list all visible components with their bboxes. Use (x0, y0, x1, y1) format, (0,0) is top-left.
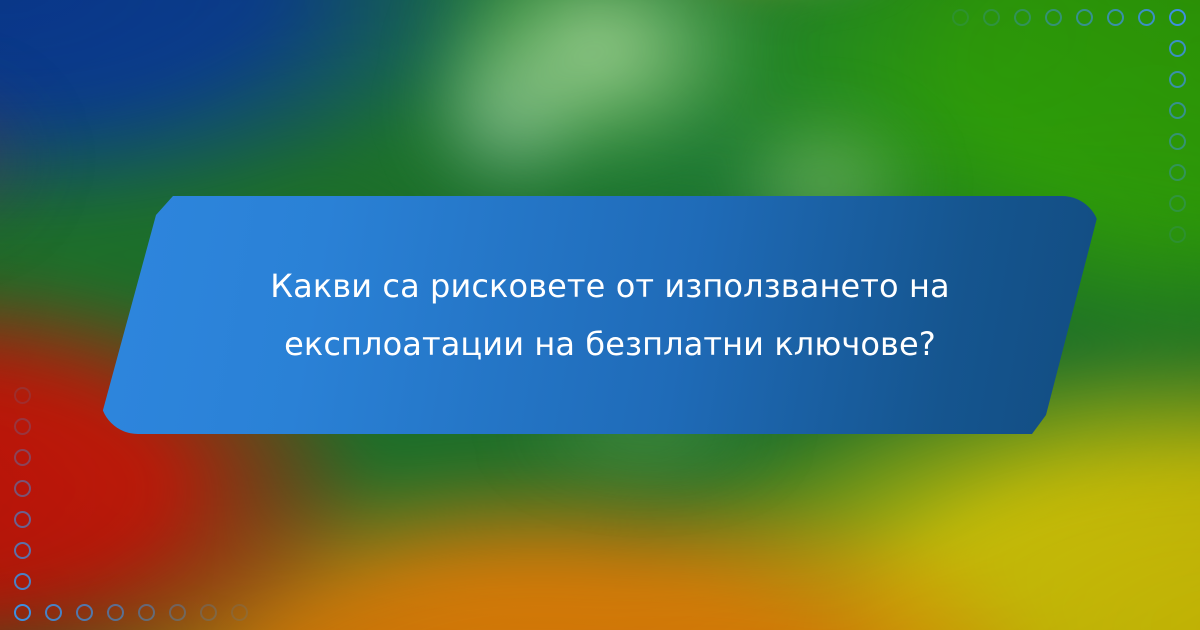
decoration-ring (1076, 9, 1093, 26)
decoration-ring (1169, 71, 1186, 88)
question-line-2: експлоатации на безплатни ключове? (284, 315, 936, 373)
decoration-ring (1045, 9, 1062, 26)
decoration-ring (1169, 40, 1186, 57)
decoration-ring (1169, 195, 1186, 212)
decoration-ring (1169, 9, 1186, 26)
decoration-ring (1169, 133, 1186, 150)
decoration-ring (1169, 226, 1186, 243)
decoration-ring (1169, 164, 1186, 181)
decoration-ring (1169, 102, 1186, 119)
decoration-ring (1014, 9, 1031, 26)
screenshot-canvas: Какви са рисковете от използването на ек… (0, 0, 1200, 630)
question-line-1: Какви са рисковете от използването на (270, 257, 949, 315)
decoration-ring (983, 9, 1000, 26)
question-card-text: Какви са рисковете от използването на ек… (100, 196, 1100, 434)
question-card: Какви са рисковете от използването на ек… (100, 196, 1100, 434)
decoration-ring (1138, 9, 1155, 26)
decoration-ring (952, 9, 969, 26)
decoration-ring (1107, 9, 1124, 26)
